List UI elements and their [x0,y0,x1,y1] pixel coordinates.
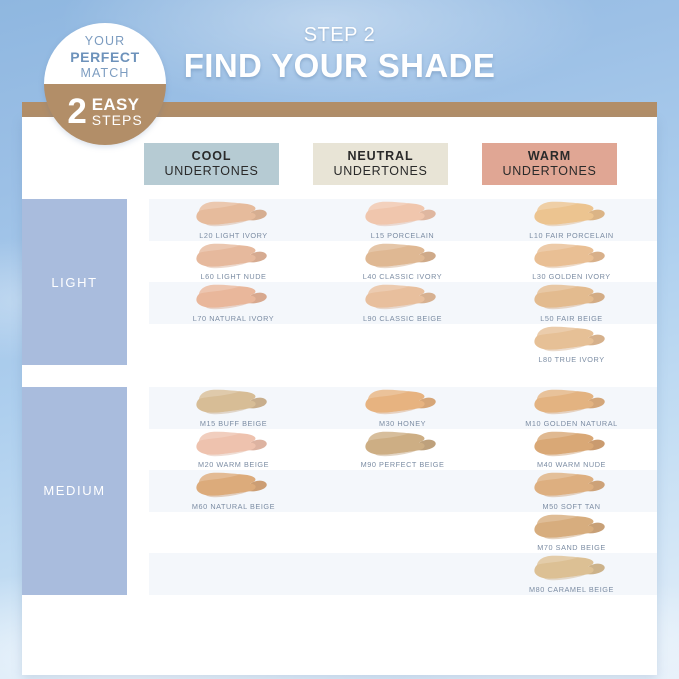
shade-name-label: L60 LIGHT NUDE [149,272,318,281]
shade-swatch-graphic [529,430,615,458]
shade-swatch-graphic [191,200,277,228]
shade-name-label: L20 LIGHT IVORY [149,231,318,240]
badge-line-match: MATCH [80,66,129,81]
shade-swatch [529,242,615,270]
shade-swatch [529,388,615,416]
shade-cell[interactable]: L60 LIGHT NUDE [149,241,318,283]
shade-swatch [360,388,446,416]
shade-name-label: M40 WARM NUDE [487,460,656,469]
shade-cell[interactable]: L70 NATURAL IVORY [149,282,318,324]
shade-cell[interactable]: M70 SAND BEIGE [487,512,656,554]
shade-swatch-graphic [360,430,446,458]
undertone-chip-neutral: NEUTRALUNDERTONES [313,143,448,185]
shade-name-label: M60 NATURAL BEIGE [149,502,318,511]
shade-cell[interactable]: L40 CLASSIC IVORY [318,241,487,283]
shade-cell[interactable]: L30 GOLDEN IVORY [487,241,656,283]
shade-name-label: L15 PORCELAIN [318,231,487,240]
shade-cell[interactable]: L50 FAIR BEIGE [487,282,656,324]
badge-line-your: YOUR [85,34,126,49]
shade-name-label: M50 SOFT TAN [487,502,656,511]
shade-swatch [360,200,446,228]
group-block-light: LIGHT [22,199,127,365]
shade-cell[interactable]: M90 PERFECT BEIGE [318,429,487,471]
shade-swatch-graphic [191,471,277,499]
shade-swatch [529,430,615,458]
shade-swatch-graphic [529,388,615,416]
shade-cell[interactable]: M80 CARAMEL BEIGE [487,553,656,595]
table-row: M15 BUFF BEIGE M30 HONEY M10 GOLDEN NATU… [149,387,657,429]
shade-finder-poster: STEP 2 FIND YOUR SHADE COOLUNDERTONESNEU… [0,0,679,679]
shade-chart-card: COOLUNDERTONESNEUTRALUNDERTONESWARMUNDER… [22,117,657,675]
shade-cell[interactable]: M50 SOFT TAN [487,470,656,512]
shade-cell-empty [318,512,487,554]
shade-cell[interactable]: L90 CLASSIC BEIGE [318,282,487,324]
shade-cell[interactable]: L15 PORCELAIN [318,199,487,241]
shade-name-label: L30 GOLDEN IVORY [487,272,656,281]
shade-cell-empty [318,553,487,595]
shade-name-label: M10 GOLDEN NATURAL [487,419,656,428]
undertone-chip-title: NEUTRAL [347,149,413,164]
shade-swatch-graphic [360,242,446,270]
shade-swatch-graphic [191,430,277,458]
shade-name-label: M15 BUFF BEIGE [149,419,318,428]
perfect-match-badge: YOUR PERFECT MATCH 2 EASY STEPS [44,23,166,145]
group-label: LIGHT [51,275,97,290]
table-row: L80 TRUE IVORY [149,324,657,366]
badge-line-perfect: PERFECT [70,49,140,66]
shade-name-label: M20 WARM BEIGE [149,460,318,469]
shade-swatch [191,283,277,311]
shade-swatch-graphic [360,200,446,228]
undertone-chip-subtitle: UNDERTONES [333,164,427,179]
shade-swatch-graphic [191,283,277,311]
shade-swatch-graphic [529,325,615,353]
table-row: M20 WARM BEIGE M90 PERFECT BEIGE M40 WAR… [149,429,657,471]
table-row: M80 CARAMEL BEIGE [149,553,657,595]
undertone-chip-subtitle: UNDERTONES [164,164,258,179]
undertone-chip-title: WARM [528,149,571,164]
badge-easy-label: EASY [92,96,143,113]
shade-name-label: L70 NATURAL IVORY [149,314,318,323]
shade-name-label: M90 PERFECT BEIGE [318,460,487,469]
shade-swatch [191,200,277,228]
shade-cell-empty [318,324,487,366]
group-grid-medium: M15 BUFF BEIGE M30 HONEY M10 GOLDEN NATU… [149,387,657,595]
shade-swatch-graphic [529,242,615,270]
shade-swatch-graphic [529,283,615,311]
shade-swatch-graphic [191,388,277,416]
table-row: L60 LIGHT NUDE L40 CLASSIC IVORY L30 GOL… [149,241,657,283]
shade-swatch [529,325,615,353]
shade-cell-empty [149,324,318,366]
shade-name-label: M80 CARAMEL BEIGE [487,585,656,594]
group-label: MEDIUM [43,483,105,498]
shade-swatch-graphic [191,242,277,270]
shade-swatch [529,283,615,311]
shade-name-label: L90 CLASSIC BEIGE [318,314,487,323]
shade-cell[interactable]: L20 LIGHT IVORY [149,199,318,241]
badge-bottom-half: 2 EASY STEPS [44,84,166,145]
shade-swatch-graphic [529,471,615,499]
undertone-header-row: COOLUNDERTONESNEUTRALUNDERTONESWARMUNDER… [22,143,657,189]
table-row: L20 LIGHT IVORY L15 PORCELAIN L10 FAIR P… [149,199,657,241]
shade-swatch [360,242,446,270]
shade-swatch [360,430,446,458]
shade-name-label: L50 FAIR BEIGE [487,314,656,323]
undertone-chip-cool: COOLUNDERTONES [144,143,279,185]
badge-number: 2 [67,96,86,128]
group-block-medium: MEDIUM [22,387,127,595]
undertone-chip-subtitle: UNDERTONES [502,164,596,179]
shade-cell-empty [149,553,318,595]
shade-cell[interactable]: M10 GOLDEN NATURAL [487,387,656,429]
shade-name-label: L80 TRUE IVORY [487,355,656,364]
shade-name-label: L10 FAIR PORCELAIN [487,231,656,240]
undertone-chip-title: COOL [192,149,232,164]
badge-top-half: YOUR PERFECT MATCH [44,23,166,84]
undertone-chip-warm: WARMUNDERTONES [482,143,617,185]
shade-name-label: L40 CLASSIC IVORY [318,272,487,281]
shade-cell-empty [318,470,487,512]
shade-cell[interactable]: M20 WARM BEIGE [149,429,318,471]
shade-swatch [360,283,446,311]
shade-swatch [529,554,615,582]
shade-cell[interactable]: M40 WARM NUDE [487,429,656,471]
shade-cell[interactable]: M60 NATURAL BEIGE [149,470,318,512]
shade-cell[interactable]: M15 BUFF BEIGE [149,387,318,429]
shade-cell[interactable]: L80 TRUE IVORY [487,324,656,366]
shade-name-label: M30 HONEY [318,419,487,428]
group-grid-light: L20 LIGHT IVORY L15 PORCELAIN L10 FAIR P… [149,199,657,365]
shade-swatch [529,200,615,228]
badge-steps-label: STEPS [92,113,143,128]
shade-swatch [191,430,277,458]
shade-swatch-graphic [529,554,615,582]
shade-swatch [529,513,615,541]
shade-swatch [529,471,615,499]
table-row: M70 SAND BEIGE [149,512,657,554]
shade-cell-empty [149,512,318,554]
table-row: M60 NATURAL BEIGE M50 SOFT TAN [149,470,657,512]
shade-swatch-graphic [529,200,615,228]
shade-swatch [191,471,277,499]
shade-name-label: M70 SAND BEIGE [487,543,656,552]
shade-cell[interactable]: M30 HONEY [318,387,487,429]
shade-swatch-graphic [360,388,446,416]
shade-swatch [191,388,277,416]
shade-swatch-graphic [360,283,446,311]
shade-swatch-graphic [529,513,615,541]
table-row: L70 NATURAL IVORY L90 CLASSIC BEIGE L50 … [149,282,657,324]
shade-cell[interactable]: L10 FAIR PORCELAIN [487,199,656,241]
shade-swatch [191,242,277,270]
